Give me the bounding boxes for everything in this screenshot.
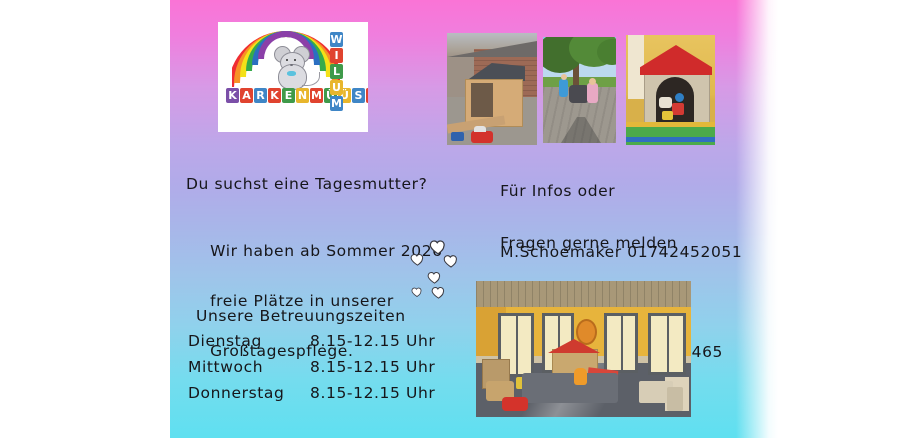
info-line-1: Für Infos oder bbox=[500, 182, 615, 200]
hours-title: Unsere Betreuungszeiten bbox=[196, 305, 406, 328]
hours-row: Donnerstag8.15-12.15 Uhr bbox=[188, 380, 450, 406]
logo-letter-h-3: K bbox=[268, 88, 281, 103]
hours-day: Mittwoch bbox=[188, 354, 310, 380]
photo-outdoor-walk bbox=[543, 37, 616, 143]
logo-letter-h-5: N bbox=[296, 88, 309, 103]
photo-playroom bbox=[476, 281, 691, 417]
logo-letter-v-4: M bbox=[330, 96, 343, 111]
photo-playhouse bbox=[447, 33, 537, 145]
logo-letter-h-10: E bbox=[366, 88, 368, 103]
mouse-mascot-icon bbox=[273, 46, 313, 90]
heart-icon bbox=[409, 252, 426, 267]
logo-letter-h-9: S bbox=[352, 88, 365, 103]
logo-word-wilum: WILUM bbox=[330, 32, 343, 111]
heart-icon bbox=[410, 286, 424, 298]
logo-letter-h-0: K bbox=[226, 88, 239, 103]
contact-person-1: M.Schoemaker 01742452051 bbox=[500, 243, 742, 261]
logo-letter-h-1: A bbox=[240, 88, 253, 103]
heart-icon bbox=[426, 270, 443, 285]
logo-word-karkenmuuse: KARKENMÜÜSE bbox=[226, 88, 368, 103]
logo-letter-v-2: L bbox=[330, 64, 343, 79]
logo-letter-h-4: E bbox=[282, 88, 295, 103]
hours-day: Dienstag bbox=[188, 328, 310, 354]
hours-time: 8.15-12.15 Uhr bbox=[310, 328, 450, 354]
hours-time: 8.15-12.15 Uhr bbox=[310, 380, 450, 406]
flyer-canvas: KARKENMÜÜSE WILUM Du suchst eine Tagesmu… bbox=[0, 0, 920, 438]
hours-table: Dienstag8.15-12.15 UhrMittwoch8.15-12.15… bbox=[188, 328, 450, 406]
heart-icon bbox=[442, 253, 460, 269]
logo-letter-v-0: W bbox=[330, 32, 343, 47]
headline-question: Du suchst eine Tagesmutter? bbox=[186, 173, 427, 196]
hours-row: Mittwoch8.15-12.15 Uhr bbox=[188, 354, 450, 380]
hours-time: 8.15-12.15 Uhr bbox=[310, 354, 450, 380]
logo-letter-v-3: U bbox=[330, 80, 343, 95]
heart-icon bbox=[430, 285, 447, 300]
logo-card: KARKENMÜÜSE WILUM bbox=[218, 22, 368, 132]
photo-toy-playhouse bbox=[626, 35, 715, 145]
hours-day: Donnerstag bbox=[188, 380, 310, 406]
hours-row: Dienstag8.15-12.15 Uhr bbox=[188, 328, 450, 354]
logo-letter-h-6: M bbox=[310, 88, 323, 103]
logo-letter-v-1: I bbox=[330, 48, 343, 63]
logo-letter-h-2: R bbox=[254, 88, 267, 103]
